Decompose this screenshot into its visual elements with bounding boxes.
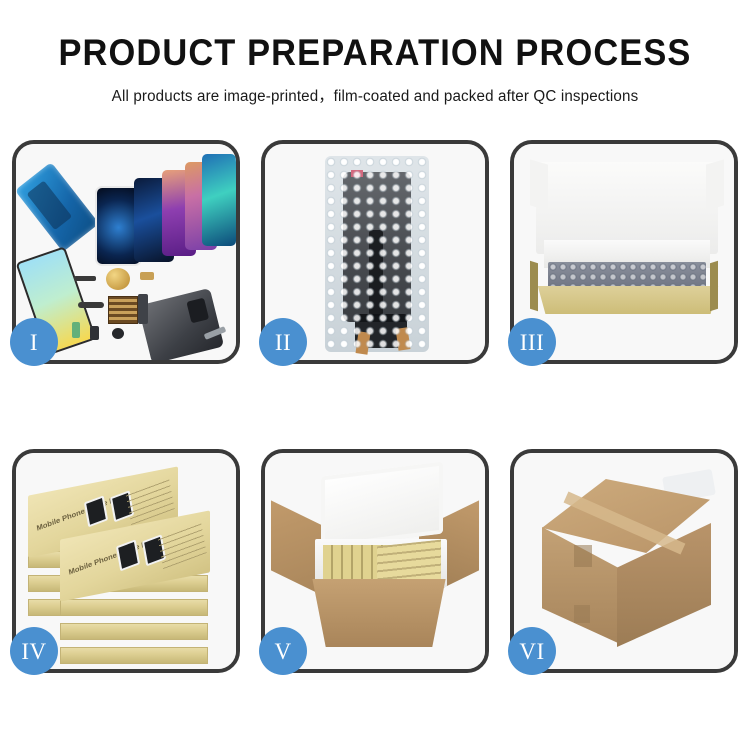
carton-body — [305, 579, 453, 647]
process-step-panel-2: II — [261, 140, 489, 364]
small-part — [78, 302, 104, 308]
flex-cable — [369, 230, 383, 316]
header: PRODUCT PREPARATION PROCESS All products… — [0, 0, 750, 106]
page-subtitle: All products are image-printed，film-coat… — [6, 84, 745, 106]
process-step-panel-6: VI — [510, 449, 738, 673]
small-part — [74, 276, 96, 281]
page-title: PRODUCT PREPARATION PROCESS — [26, 34, 724, 73]
phone-back-housing — [138, 288, 224, 360]
step-badge-1: I — [10, 318, 58, 366]
process-step-panel-4: Mobile Phone Spare Parts Mobile Phone Sp… — [12, 449, 240, 673]
phone-back-cover-blue — [16, 162, 99, 252]
gold-box-left-edge — [530, 261, 538, 312]
small-part — [112, 328, 124, 339]
step-badge-6: VI — [508, 627, 556, 675]
chip-component — [108, 296, 138, 324]
tape-strip — [396, 327, 411, 350]
speaker-component — [106, 268, 130, 290]
process-step-panel-5: V — [261, 449, 489, 673]
carton-seam — [574, 545, 592, 567]
phone-display-teal — [202, 154, 236, 246]
spec-text-lines — [157, 521, 206, 569]
step-badge-5: V — [259, 627, 307, 675]
carton-seam — [574, 605, 590, 623]
gold-box-right-edge — [710, 261, 718, 312]
tape-strip — [356, 331, 371, 354]
step-badge-2: II — [259, 318, 307, 366]
product-preparation-process-infographic: PRODUCT PREPARATION PROCESS All products… — [0, 0, 750, 750]
process-step-panel-3: III — [510, 140, 738, 364]
box-side-layer — [60, 599, 208, 616]
small-part — [72, 322, 80, 338]
screen-image — [84, 495, 108, 527]
small-part — [140, 272, 154, 280]
gold-box-front-wall — [532, 286, 724, 314]
screen-image — [116, 539, 140, 571]
step-badge-4: IV — [10, 627, 58, 675]
box-side-layer — [60, 647, 208, 664]
step-badge-3: III — [508, 318, 556, 366]
box-side-layer — [60, 623, 208, 640]
process-step-panel-1: I — [12, 140, 240, 364]
label-sticker — [351, 170, 363, 177]
small-part — [138, 294, 148, 324]
bubble-wrap-package — [325, 156, 429, 352]
small-part — [90, 326, 99, 340]
foam-lid — [321, 462, 443, 549]
process-steps-grid: I II — [12, 140, 738, 673]
